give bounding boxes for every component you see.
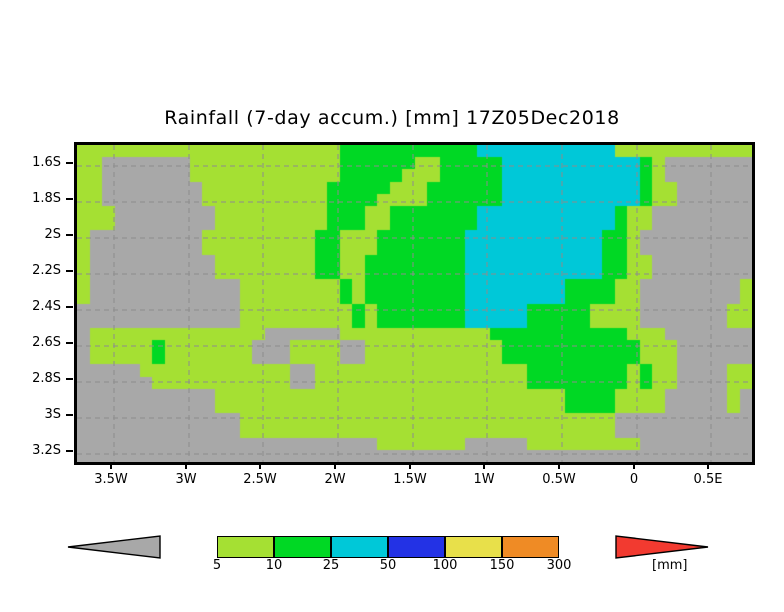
x-tick-label: 0.5W — [519, 472, 599, 487]
colorbar-segment — [217, 536, 274, 558]
y-tick-label: 1.6S — [0, 155, 61, 170]
x-tick-mark — [334, 462, 336, 469]
y-tick-mark — [66, 342, 73, 344]
plot-frame — [74, 142, 755, 465]
x-tick-mark — [707, 462, 709, 469]
y-tick-mark — [66, 270, 73, 272]
x-tick-label: 1.5W — [370, 472, 450, 487]
y-tick-label: 2S — [0, 227, 61, 242]
y-tick-mark — [66, 162, 73, 164]
colorbar-right-arrow — [616, 536, 708, 558]
x-tick-mark — [110, 462, 112, 469]
x-tick-label: 3.5W — [71, 472, 151, 487]
y-tick-mark — [66, 198, 73, 200]
plot-area — [77, 145, 752, 462]
colorbar-segment — [388, 536, 445, 558]
colorbar-segment — [445, 536, 502, 558]
y-tick-mark — [66, 450, 73, 452]
x-tick-mark — [185, 462, 187, 469]
y-tick-label: 1.8S — [0, 191, 61, 206]
y-tick-mark — [66, 378, 73, 380]
colorbar-left-arrow — [68, 536, 160, 558]
y-tick-mark — [66, 234, 73, 236]
colorbar-segment — [274, 536, 331, 558]
colorbar-unit-label: [mm] — [652, 558, 687, 573]
x-tick-mark — [409, 462, 411, 469]
y-tick-mark — [66, 414, 73, 416]
y-tick-label: 2.6S — [0, 335, 61, 350]
y-tick-mark — [66, 306, 73, 308]
x-tick-mark — [483, 462, 485, 469]
x-tick-mark — [558, 462, 560, 469]
x-tick-label: 0 — [594, 472, 674, 487]
colorbar-bar — [160, 536, 616, 558]
y-tick-label: 3.2S — [0, 443, 61, 458]
x-tick-label: 0.5E — [668, 472, 748, 487]
rainfall-heatmap-figure: Rainfall (7-day accum.) [mm] 17Z05Dec201… — [0, 0, 784, 612]
page-title: Rainfall (7-day accum.) [mm] 17Z05Dec201… — [0, 107, 784, 129]
y-tick-label: 3S — [0, 407, 61, 422]
colorbar-segment — [502, 536, 559, 558]
x-tick-mark — [633, 462, 635, 469]
x-tick-label: 3W — [146, 472, 226, 487]
colorbar-legend: [mm] 5102550100150300 — [0, 524, 784, 584]
x-tick-label: 1W — [444, 472, 524, 487]
colorbar-segment — [331, 536, 388, 558]
x-tick-mark — [259, 462, 261, 469]
y-tick-label: 2.8S — [0, 371, 61, 386]
rainfall-grid — [77, 145, 752, 462]
x-tick-label: 2W — [295, 472, 375, 487]
y-tick-label: 2.4S — [0, 299, 61, 314]
y-tick-label: 2.2S — [0, 263, 61, 278]
x-tick-label: 2.5W — [220, 472, 300, 487]
colorbar-tick-label: 300 — [519, 558, 599, 573]
